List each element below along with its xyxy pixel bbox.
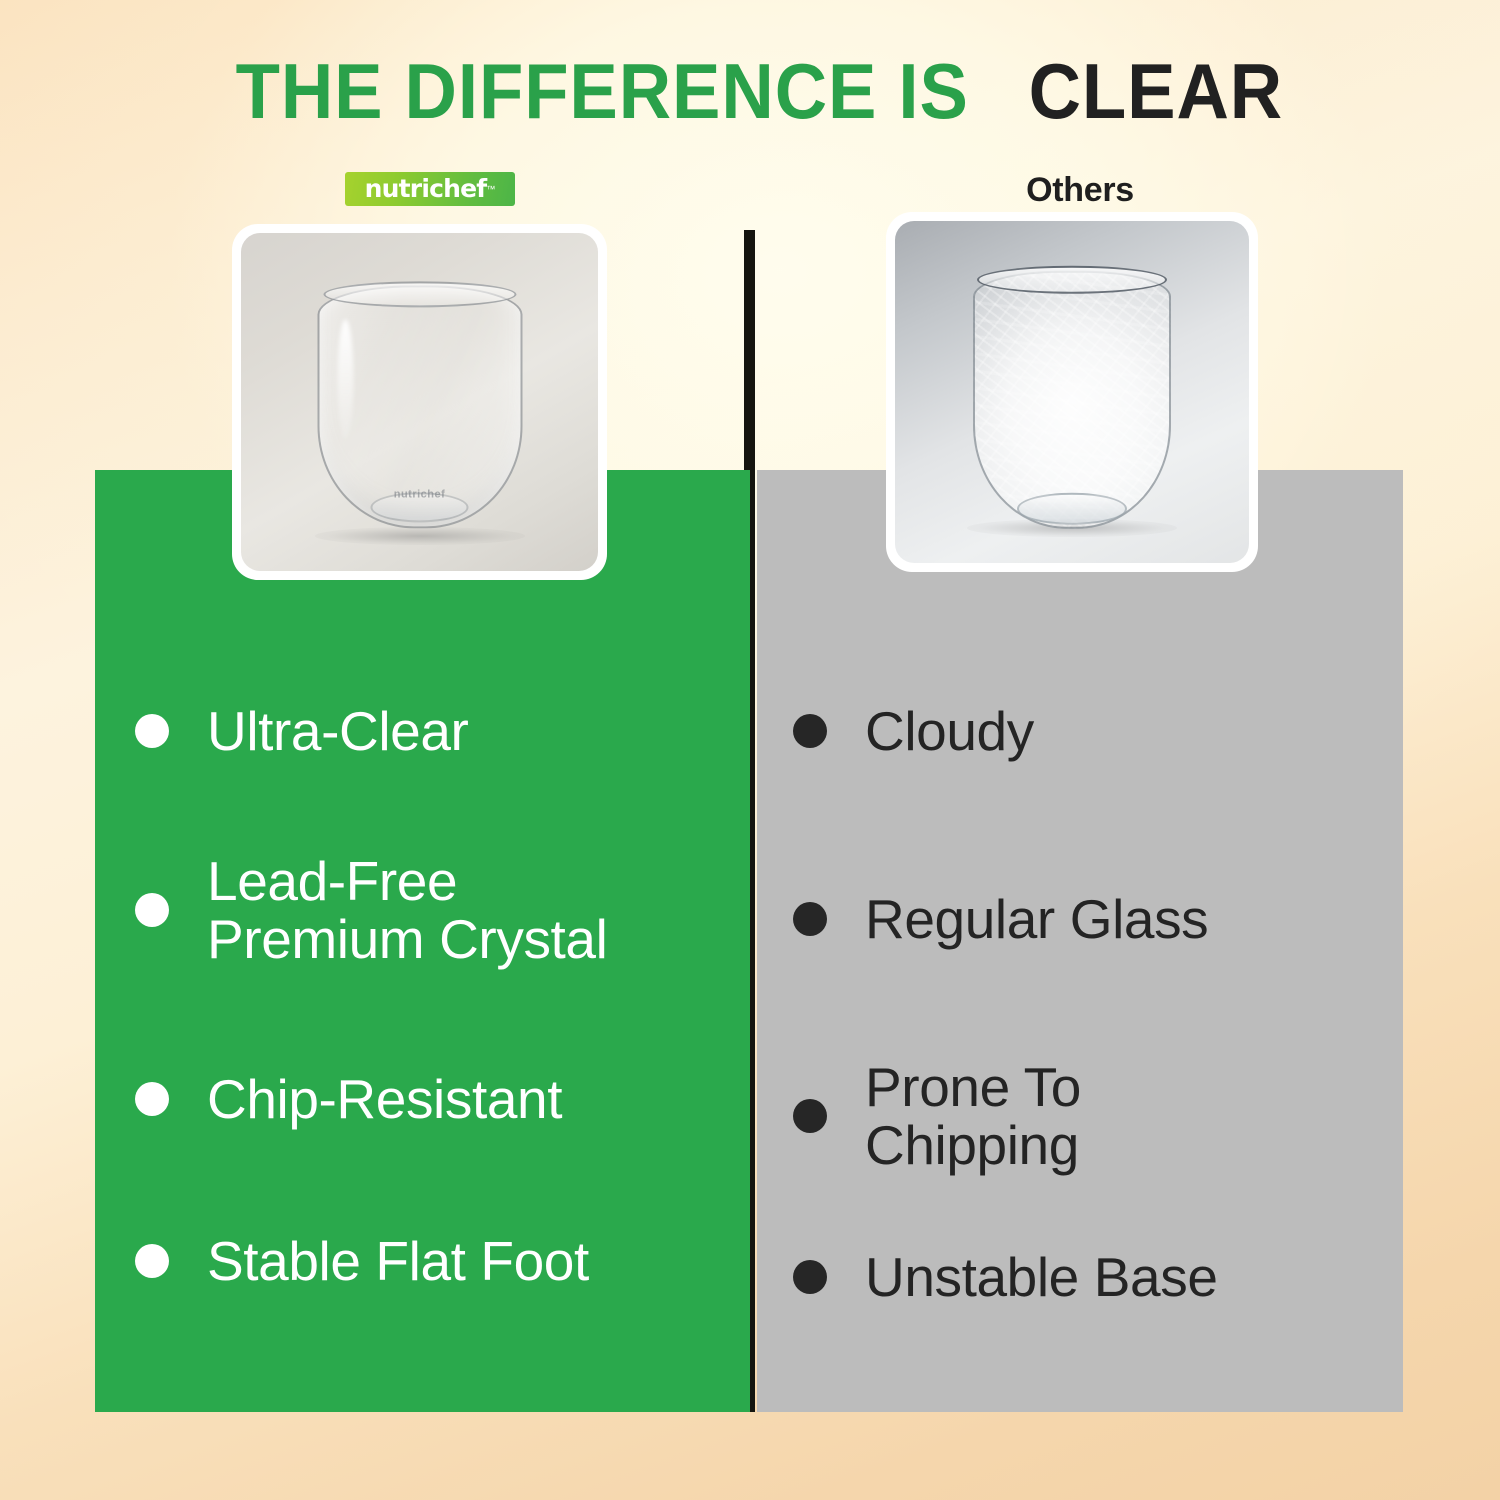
bullet-dot-icon xyxy=(793,1260,827,1294)
list-item-label: Cloudy xyxy=(865,702,1034,760)
list-item-label: Stable Flat Foot xyxy=(207,1232,589,1290)
list-item-label: Lead-Free Premium Crystal xyxy=(207,852,607,969)
clear-glass-illustration: nutrichef xyxy=(317,285,522,528)
glass-highlight xyxy=(337,319,353,439)
infographic-canvas: THE DIFFERENCE IS CLEAR nutrichef™ Other… xyxy=(0,0,1500,1500)
list-item: Ultra-Clear xyxy=(135,702,468,760)
list-item: Unstable Base xyxy=(793,1248,1218,1306)
glass-rim xyxy=(323,281,516,307)
list-item-label: Prone To Chipping xyxy=(865,1058,1081,1175)
nutrichef-feature-list: Ultra-Clear Lead-Free Premium Crystal Ch… xyxy=(95,470,750,1412)
bullet-dot-icon xyxy=(793,1099,827,1133)
brand-logo-badge: nutrichef™ xyxy=(345,172,515,206)
bullet-dot-icon xyxy=(135,714,169,748)
nutrichef-product-photo: nutrichef xyxy=(241,233,598,571)
others-column-heading: Others xyxy=(960,171,1200,210)
bullet-dot-icon xyxy=(135,893,169,927)
glass-rim xyxy=(977,266,1167,294)
title-highlight-dark: CLEAR xyxy=(1028,52,1283,130)
bullet-dot-icon xyxy=(793,714,827,748)
others-feature-panel: Cloudy Regular Glass Prone To Chipping U… xyxy=(757,470,1403,1412)
brand-logo-label: nutrichef xyxy=(365,176,487,201)
bullet-dot-icon xyxy=(135,1082,169,1116)
product-shadow xyxy=(315,527,525,545)
nutrichef-product-image-card: nutrichef xyxy=(232,224,607,580)
list-item-label: Ultra-Clear xyxy=(207,702,468,760)
bullet-dot-icon xyxy=(793,902,827,936)
page-title: THE DIFFERENCE IS CLEAR xyxy=(0,52,1500,130)
list-item: Lead-Free Premium Crystal xyxy=(135,852,607,969)
cloudy-glass-illustration xyxy=(973,271,1171,529)
list-item: Cloudy xyxy=(793,702,1034,760)
list-item-label: Unstable Base xyxy=(865,1248,1218,1306)
list-item-label: Chip-Resistant xyxy=(207,1070,562,1128)
others-feature-list: Cloudy Regular Glass Prone To Chipping U… xyxy=(757,470,1403,1412)
trademark-icon: ™ xyxy=(486,184,495,194)
glass-etched-logo: nutrichef xyxy=(394,488,446,500)
glass-body xyxy=(973,271,1171,529)
list-item-label: Regular Glass xyxy=(865,890,1208,948)
nutrichef-feature-panel: Ultra-Clear Lead-Free Premium Crystal Ch… xyxy=(95,470,750,1412)
list-item: Stable Flat Foot xyxy=(135,1232,589,1290)
list-item: Chip-Resistant xyxy=(135,1070,562,1128)
list-item: Prone To Chipping xyxy=(793,1058,1081,1175)
others-product-photo xyxy=(895,221,1249,563)
bullet-dot-icon xyxy=(135,1244,169,1278)
title-highlight-green: THE DIFFERENCE IS xyxy=(235,52,968,130)
list-item: Regular Glass xyxy=(793,890,1208,948)
others-product-image-card xyxy=(886,212,1258,572)
glass-base xyxy=(1017,493,1128,525)
